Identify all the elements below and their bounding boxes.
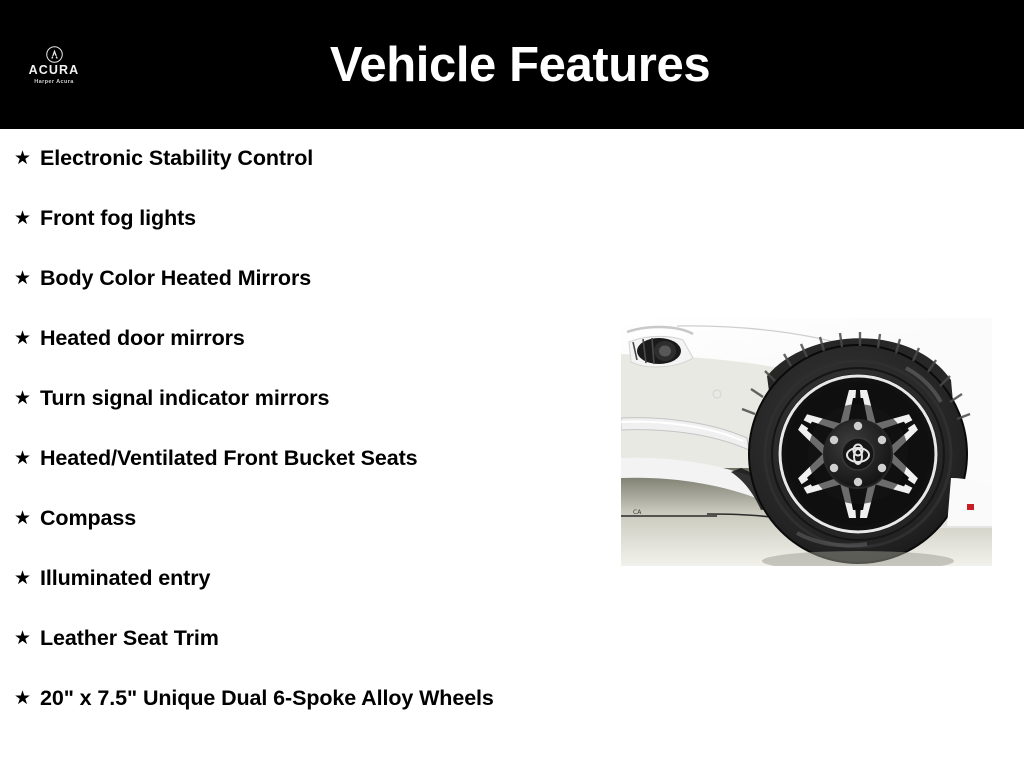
star-bullet-icon: ★ xyxy=(14,683,40,713)
feature-label: Electronic Stability Control xyxy=(40,143,313,173)
list-item: ★ Leather Seat Trim xyxy=(0,623,600,683)
list-item: ★ Front fog lights xyxy=(0,203,600,263)
list-item: ★ 20" x 7.5" Unique Dual 6-Spoke Alloy W… xyxy=(0,683,600,743)
star-bullet-icon: ★ xyxy=(14,503,40,533)
star-bullet-icon: ★ xyxy=(14,623,40,653)
feature-label: Turn signal indicator mirrors xyxy=(40,383,329,413)
feature-label: Illuminated entry xyxy=(40,563,210,593)
feature-label: Heated/Ventilated Front Bucket Seats xyxy=(40,443,418,473)
star-bullet-icon: ★ xyxy=(14,143,40,173)
list-item: ★ Electronic Stability Control xyxy=(0,143,600,203)
list-item: ★ Illuminated entry xyxy=(0,563,600,623)
list-item: ★ Heated/Ventilated Front Bucket Seats xyxy=(0,443,600,503)
feature-label: 20" x 7.5" Unique Dual 6-Spoke Alloy Whe… xyxy=(40,683,494,713)
feature-label: Heated door mirrors xyxy=(40,323,245,353)
star-bullet-icon: ★ xyxy=(14,563,40,593)
feature-label: Body Color Heated Mirrors xyxy=(40,263,311,293)
vehicle-features-list: ★ Electronic Stability Control ★ Front f… xyxy=(0,129,600,743)
list-item: ★ Turn signal indicator mirrors xyxy=(0,383,600,443)
star-bullet-icon: ★ xyxy=(14,323,40,353)
star-bullet-icon: ★ xyxy=(14,203,40,233)
page-title: Vehicle Features xyxy=(0,0,1024,129)
star-bullet-icon: ★ xyxy=(14,263,40,293)
feature-label: Front fog lights xyxy=(40,203,196,233)
feature-label: Leather Seat Trim xyxy=(40,623,219,653)
star-bullet-icon: ★ xyxy=(14,443,40,473)
page-header: ACURA Harper Acura Vehicle Features xyxy=(0,0,1024,129)
svg-text:CA: CA xyxy=(633,509,642,516)
list-item: ★ Body Color Heated Mirrors xyxy=(0,263,600,323)
vehicle-wheel-photo: CA xyxy=(621,318,992,566)
feature-label: Compass xyxy=(40,503,136,533)
star-bullet-icon: ★ xyxy=(14,383,40,413)
list-item: ★ Compass xyxy=(0,503,600,563)
list-item: ★ Heated door mirrors xyxy=(0,323,600,383)
